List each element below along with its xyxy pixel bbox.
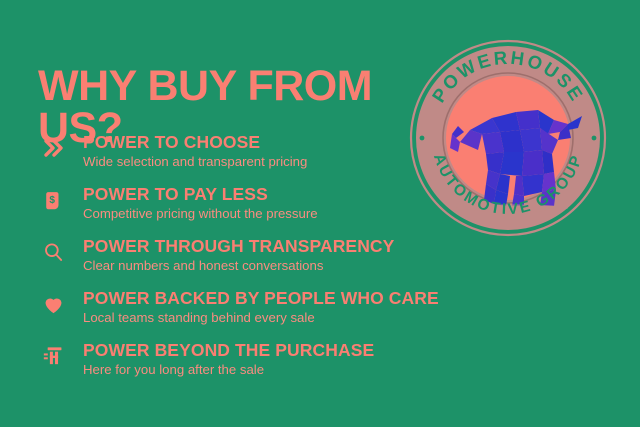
- svg-text:$: $: [49, 195, 55, 206]
- magnifying-glass-icon: [38, 239, 68, 265]
- storefront-counter-icon: [38, 343, 68, 369]
- price-tag-dollar-icon: $: [38, 187, 68, 213]
- promotional-slide: Why Buy From Us? Power to Choose Wide se…: [0, 0, 640, 427]
- heart-icon: [38, 291, 68, 317]
- benefit-title: Power Beyond the Purchase: [83, 341, 498, 360]
- benefit-title: Power Backed by People Who Care: [83, 289, 498, 308]
- double-chevron-right-icon: [38, 135, 68, 161]
- badge-right-dot: [592, 136, 597, 141]
- list-item: Power Beyond the Purchase Here for you l…: [38, 341, 498, 389]
- list-item: Power Backed by People Who Care Local te…: [38, 289, 498, 337]
- company-logo-badge: POWERHOUSE AUTOMOTIVE GROUP: [408, 38, 608, 238]
- list-item: Power Through Transparency Clear numbers…: [38, 237, 498, 285]
- benefit-subtitle: Here for you long after the sale: [83, 362, 498, 379]
- benefit-subtitle: Clear numbers and honest conversations: [83, 258, 498, 275]
- benefit-title: Power Through Transparency: [83, 237, 498, 256]
- badge-left-dot: [420, 136, 425, 141]
- benefit-subtitle: Local teams standing behind every sale: [83, 310, 498, 327]
